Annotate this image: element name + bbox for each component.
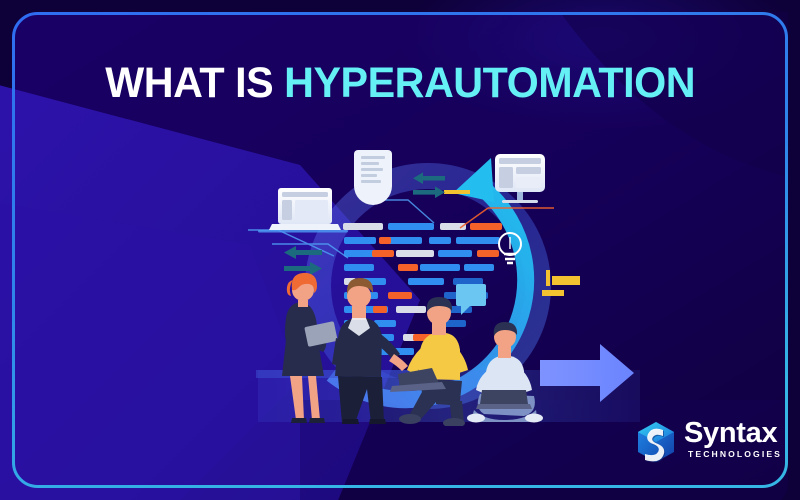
banner: WHAT IS HYPERAUTOMATION — [0, 0, 800, 500]
logo-tagline: TECHNOLOGIES — [684, 448, 784, 460]
server-document-icon — [354, 150, 392, 205]
title-prefix: WHAT IS — [105, 59, 284, 107]
logo-name: Syntax — [684, 418, 784, 448]
brand-logo[interactable]: Syntax TECHNOLOGIES — [634, 416, 784, 468]
logo-text: Syntax TECHNOLOGIES — [684, 418, 784, 460]
page-title: WHAT IS HYPERAUTOMATION — [0, 62, 800, 105]
hyperautomation-illustration — [248, 138, 640, 426]
title-keyword: HYPERAUTOMATION — [284, 59, 695, 107]
hexagon-s-icon — [634, 420, 678, 464]
